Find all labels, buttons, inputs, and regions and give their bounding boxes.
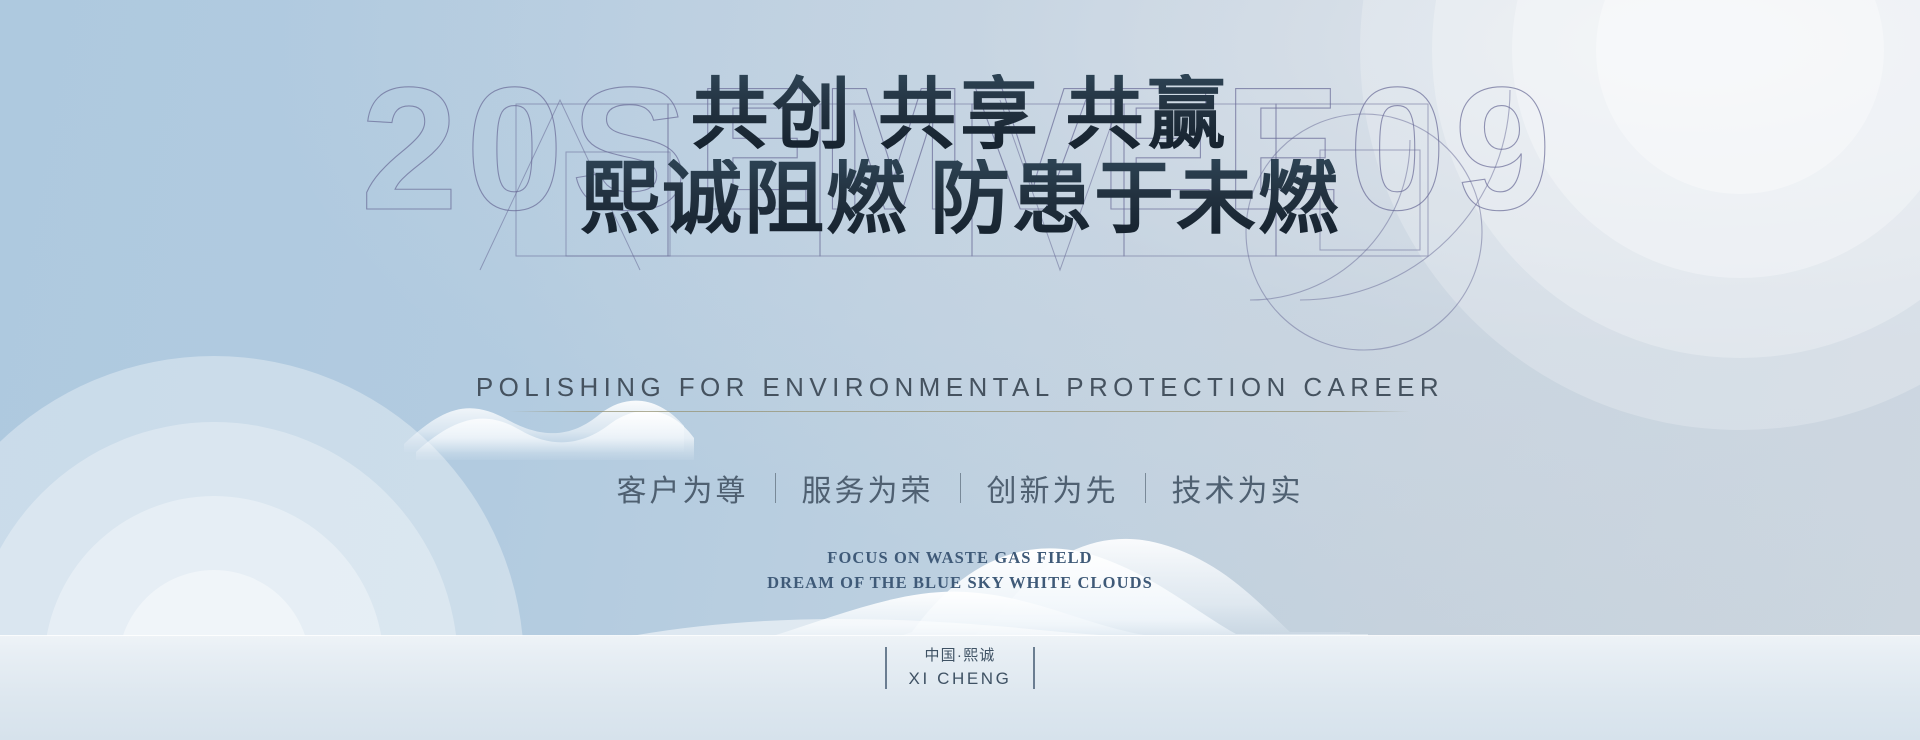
- couplet-line-1: FOCUS ON WASTE GAS FIELD: [0, 546, 1920, 571]
- value-separator-1: [775, 473, 776, 503]
- strapline-underline: [510, 411, 1410, 412]
- banner-canvas: 20SEMVEE09: [0, 0, 1920, 740]
- value-item-1: 客户为尊: [591, 466, 775, 510]
- brand-name-en: XI CHENG: [909, 667, 1012, 692]
- values-row: 客户为尊 服务为荣 创新为先 技术为实: [0, 466, 1920, 510]
- serif-couplet: FOCUS ON WASTE GAS FIELD DREAM OF THE BL…: [0, 546, 1920, 596]
- headline-line-2: 熙诚阻燃 防患于未燃: [0, 159, 1920, 242]
- value-separator-2: [960, 473, 961, 503]
- page-title: 共创 共享 共赢 熙诚阻燃 防患于未燃: [0, 74, 1920, 242]
- brand-lockup: 中国·熙诚 XI CHENG: [0, 645, 1920, 692]
- brand-bar-left: [885, 647, 887, 689]
- value-item-4: 技术为实: [1146, 466, 1330, 510]
- value-item-3: 创新为先: [961, 466, 1145, 510]
- headline-line-1: 共创 共享 共赢: [0, 74, 1920, 155]
- brand-name-cn: 中国·熙诚: [909, 645, 1012, 668]
- brand-bar-right: [1033, 647, 1035, 689]
- value-separator-3: [1145, 473, 1146, 503]
- english-strapline: POLISHING FOR ENVIRONMENTAL PROTECTION C…: [0, 372, 1920, 403]
- couplet-line-2: DREAM OF THE BLUE SKY WHITE CLOUDS: [0, 571, 1920, 596]
- value-item-2: 服务为荣: [776, 466, 960, 510]
- brand-names: 中国·熙诚 XI CHENG: [909, 645, 1012, 692]
